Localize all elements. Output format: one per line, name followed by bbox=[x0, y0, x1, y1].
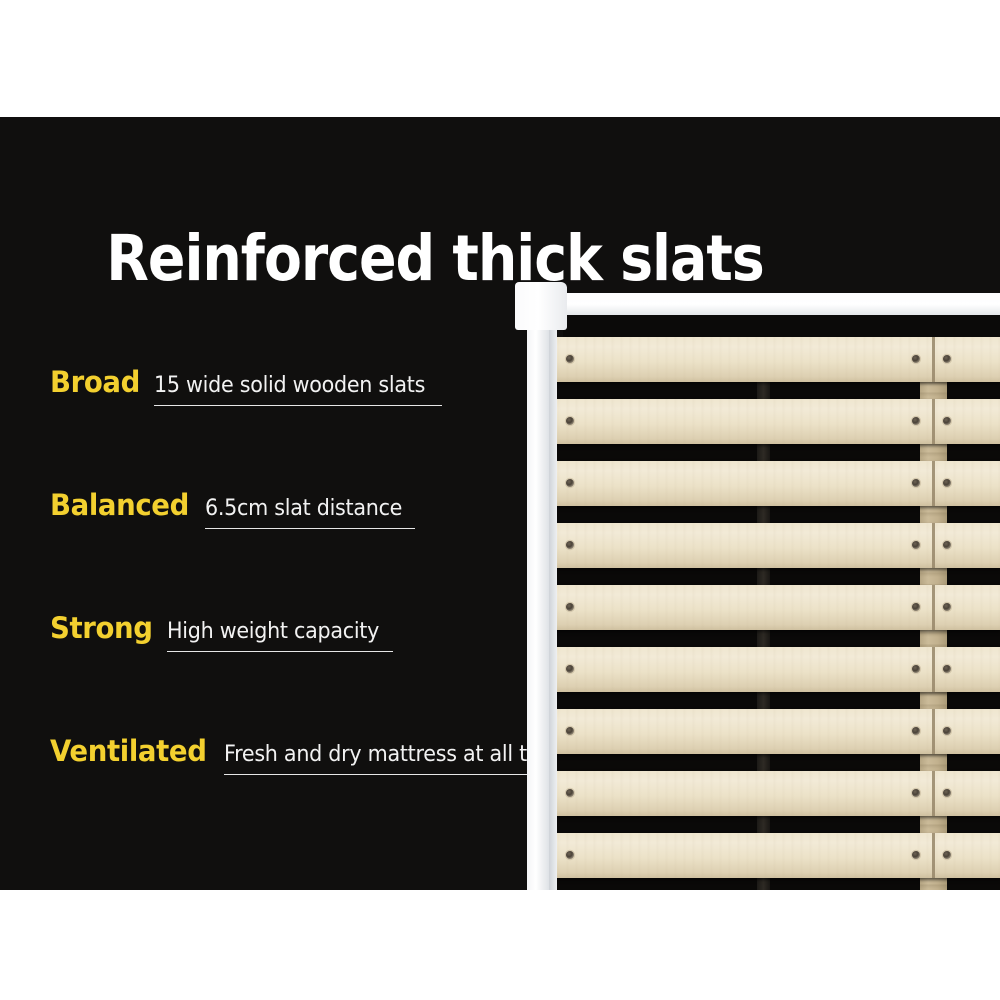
screw-beam-left bbox=[912, 603, 920, 611]
slat-seam bbox=[932, 523, 935, 568]
feature-value-strong: High weight capacity bbox=[167, 619, 379, 644]
top-white-margin bbox=[0, 0, 1000, 117]
feature-value-underline-broad: 15 wide solid wooden slats bbox=[154, 373, 442, 406]
screw-beam-right bbox=[943, 665, 951, 673]
screw-beam-left bbox=[912, 417, 920, 425]
screw-left-rail bbox=[566, 355, 574, 363]
screw-beam-right bbox=[943, 727, 951, 735]
feature-key-balanced: Balanced bbox=[50, 488, 189, 522]
screw-beam-left bbox=[912, 355, 920, 363]
frame-side-rail bbox=[549, 325, 557, 890]
slat-seam bbox=[932, 461, 935, 506]
slat-seam bbox=[932, 337, 935, 382]
screw-beam-left bbox=[912, 541, 920, 549]
screw-beam-left bbox=[912, 479, 920, 487]
slat-seam bbox=[932, 833, 935, 878]
screw-beam-right bbox=[943, 541, 951, 549]
feature-key-strong: Strong bbox=[50, 611, 153, 645]
feature-row-broad: Broad 15 wide solid wooden slats bbox=[50, 365, 570, 488]
screw-beam-right bbox=[943, 603, 951, 611]
slat-seam bbox=[932, 647, 935, 692]
screw-beam-left bbox=[912, 727, 920, 735]
feature-row-ventilated: Ventilated Fresh and dry mattress at all… bbox=[50, 734, 570, 857]
slat-seam bbox=[932, 771, 935, 816]
screw-beam-right bbox=[943, 479, 951, 487]
slat-seam bbox=[932, 585, 935, 630]
feature-value-underline-strong: High weight capacity bbox=[167, 619, 393, 652]
frame-corner-leg bbox=[527, 325, 549, 890]
feature-list: Broad 15 wide solid wooden slats Balance… bbox=[50, 365, 570, 857]
screw-beam-right bbox=[943, 355, 951, 363]
bottom-white-margin bbox=[0, 890, 1000, 1000]
feature-value-balanced: 6.5cm slat distance bbox=[205, 496, 402, 521]
screw-left-rail bbox=[566, 541, 574, 549]
screw-left-rail bbox=[566, 789, 574, 797]
feature-row-balanced: Balanced 6.5cm slat distance bbox=[50, 488, 570, 611]
screw-beam-right bbox=[943, 417, 951, 425]
screw-left-rail bbox=[566, 417, 574, 425]
wooden-slat-deck bbox=[552, 337, 1000, 890]
screw-beam-right bbox=[943, 851, 951, 859]
feature-row-strong: Strong High weight capacity bbox=[50, 611, 570, 734]
feature-key-ventilated: Ventilated bbox=[50, 734, 207, 768]
rail-shadow bbox=[563, 315, 1000, 337]
screw-beam-left bbox=[912, 665, 920, 673]
screw-left-rail bbox=[566, 603, 574, 611]
screw-left-rail bbox=[566, 665, 574, 673]
bed-base-photo bbox=[505, 165, 1000, 890]
screw-beam-right bbox=[943, 789, 951, 797]
frame-top-rail bbox=[560, 293, 1000, 315]
screw-beam-left bbox=[912, 851, 920, 859]
slat-seam bbox=[932, 709, 935, 754]
slat-seam bbox=[932, 399, 935, 444]
feature-key-broad: Broad bbox=[50, 365, 140, 399]
screw-beam-left bbox=[912, 789, 920, 797]
frame-corner-post bbox=[515, 282, 567, 330]
screw-left-rail bbox=[566, 727, 574, 735]
screw-left-rail bbox=[566, 851, 574, 859]
feature-value-underline-balanced: 6.5cm slat distance bbox=[205, 496, 415, 529]
feature-value-broad: 15 wide solid wooden slats bbox=[154, 373, 425, 398]
screw-left-rail bbox=[566, 479, 574, 487]
